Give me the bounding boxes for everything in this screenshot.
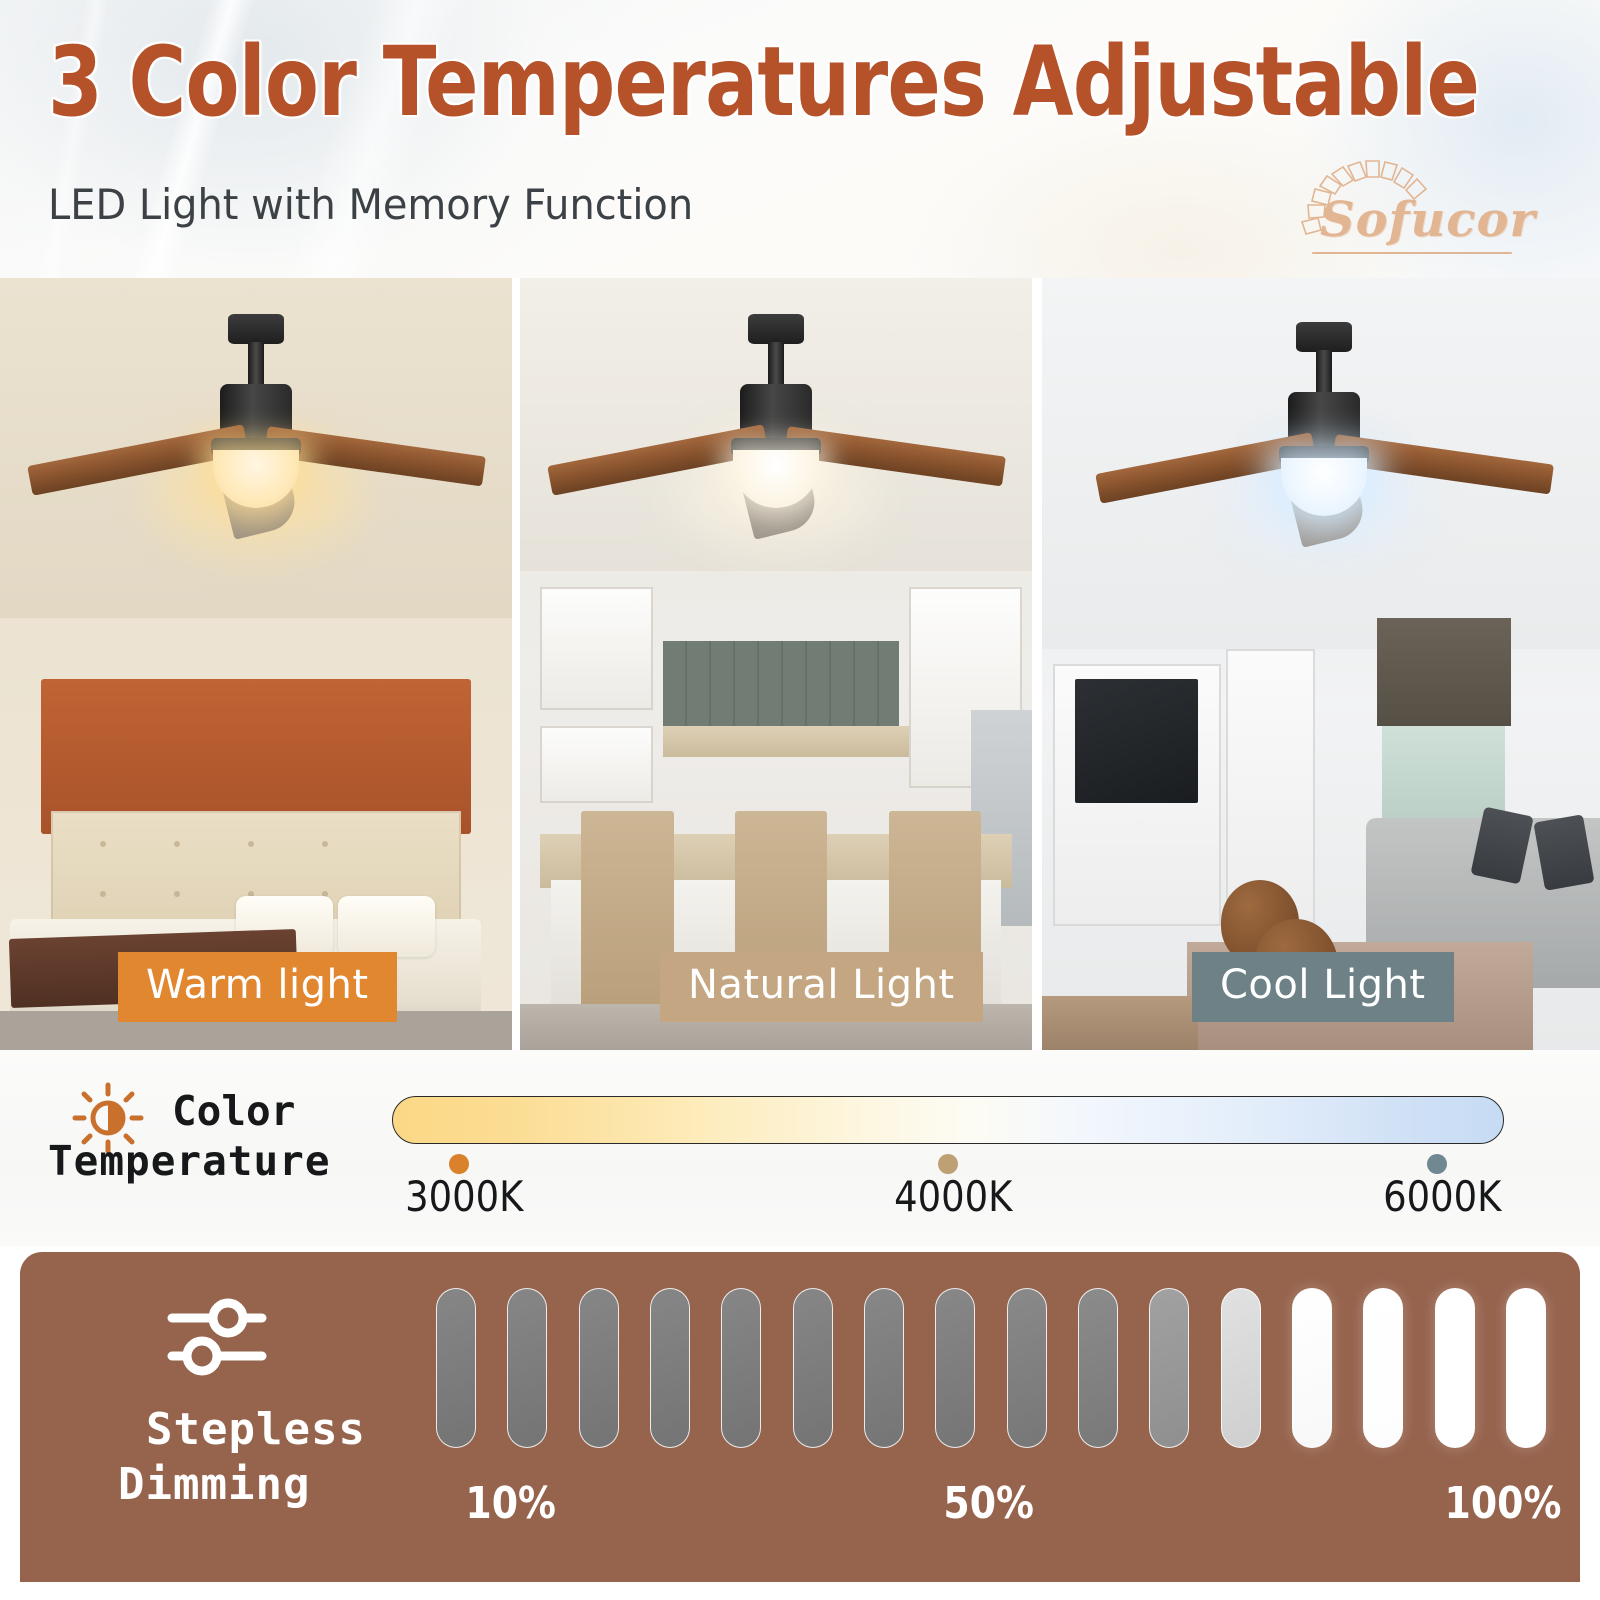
panel-caption-natural: Natural Light — [660, 952, 983, 1022]
ct-label-line1: Color — [172, 1086, 370, 1136]
dimming-label: Stepless Dimming — [60, 1402, 390, 1512]
brightness-bar[interactable] — [793, 1288, 833, 1448]
brightness-bar[interactable] — [1506, 1288, 1546, 1448]
brightness-bar[interactable] — [1221, 1288, 1261, 1448]
brand-wordmark: Sofucor — [1320, 192, 1536, 248]
living-room-scene — [1042, 278, 1600, 1050]
brightness-bar[interactable] — [1435, 1288, 1475, 1448]
brightness-bar[interactable] — [579, 1288, 619, 1448]
upper-cabinet — [540, 587, 653, 711]
dimming-tick-100: 100% — [1445, 1478, 1562, 1529]
panel-caption-cool: Cool Light — [1192, 952, 1454, 1022]
ceiling-fan-icon — [0, 314, 512, 544]
scene-panel-natural[interactable]: Natural Light — [520, 278, 1032, 1050]
panel-caption-warm: Warm light — [118, 952, 397, 1022]
upper-cabinet — [540, 726, 653, 803]
floor — [1042, 996, 1198, 1050]
dimming-label-line1: Stepless — [146, 1402, 390, 1457]
dimming-tick-50: 50% — [943, 1478, 1034, 1529]
brightness-bar[interactable] — [1363, 1288, 1403, 1448]
logo-underline — [1312, 252, 1512, 254]
ct-marker-dot — [449, 1154, 469, 1174]
dimming-tick-10: 10% — [466, 1478, 557, 1529]
ct-marker-dot — [938, 1154, 958, 1174]
brightness-bar-group[interactable] — [436, 1288, 1546, 1448]
kitchen-scene — [520, 278, 1032, 1050]
counter — [663, 726, 909, 757]
dimming-label-line2: Dimming — [118, 1457, 390, 1512]
brightness-bar[interactable] — [1078, 1288, 1118, 1448]
stepless-dimming-panel: Stepless Dimming 10% 50% 100% — [20, 1252, 1580, 1582]
page-title: 3 Color Temperatures Adjustable — [48, 34, 1479, 130]
ceiling-fan-icon — [520, 314, 1032, 544]
sliders-icon — [166, 1298, 278, 1376]
brand-logo: Sofucor — [1290, 160, 1520, 266]
brightness-bar[interactable] — [721, 1288, 761, 1448]
brightness-bar[interactable] — [935, 1288, 975, 1448]
ct-tick-3000k: 3000K — [405, 1172, 523, 1221]
ct-tick-6000k: 6000K — [1383, 1172, 1501, 1221]
color-temperature-label: Color Temperature — [0, 1086, 370, 1186]
scene-panel-warm[interactable]: Warm light — [0, 278, 512, 1050]
bedroom-scene — [0, 278, 512, 1050]
brightness-bar[interactable] — [864, 1288, 904, 1448]
ct-label-line2: Temperature — [48, 1136, 370, 1186]
brightness-bar[interactable] — [436, 1288, 476, 1448]
television — [1075, 679, 1198, 803]
ceiling-fan-icon — [1068, 322, 1580, 552]
color-temperature-gradient-bar[interactable] — [392, 1096, 1504, 1144]
scene-panel-cool[interactable]: Cool Light — [1042, 278, 1600, 1050]
ct-tick-4000k: 4000K — [894, 1172, 1012, 1221]
brightness-bar[interactable] — [1292, 1288, 1332, 1448]
brightness-bar[interactable] — [507, 1288, 547, 1448]
pillow — [338, 896, 435, 958]
window-shade — [1377, 618, 1511, 726]
tile-backsplash — [663, 641, 899, 726]
brightness-bar[interactable] — [1007, 1288, 1047, 1448]
brightness-bar[interactable] — [650, 1288, 690, 1448]
brightness-bar[interactable] — [1149, 1288, 1189, 1448]
scene-panels: Warm light — [0, 278, 1600, 1050]
header-banner: 3 Color Temperatures Adjustable LED Ligh… — [0, 0, 1600, 278]
page-subtitle: LED Light with Memory Function — [48, 180, 693, 229]
